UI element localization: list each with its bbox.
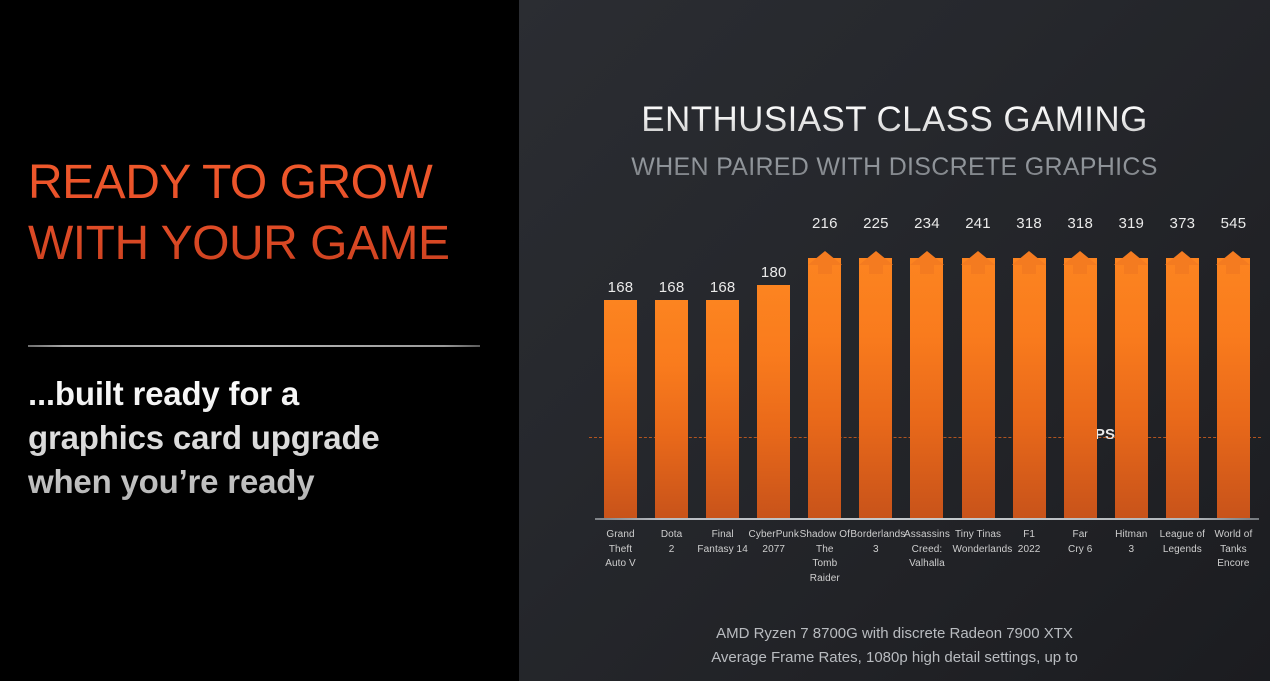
bar-slot: 168	[697, 210, 748, 518]
x-axis-label-line: Borderlands 3	[850, 528, 901, 557]
bar-value-label: 318	[1004, 215, 1055, 232]
x-axis-label: AssassinsCreed:Valhalla	[901, 528, 952, 586]
x-axis-label: World ofTanksEncore	[1208, 528, 1259, 586]
bar-slot: 545	[1208, 210, 1259, 518]
bar-value-label: 168	[595, 279, 646, 296]
x-axis-label: Borderlands 3	[850, 528, 901, 586]
headline-line-1: READY TO GROW	[28, 152, 498, 213]
x-axis-label-line: Tomb Raider	[799, 557, 850, 586]
subheadline-line-3: when you’re ready	[28, 460, 498, 504]
bar-value-label: 319	[1106, 215, 1157, 232]
bar-slot: 373	[1157, 210, 1208, 518]
bar-value-label: 545	[1208, 215, 1259, 232]
x-axis-label: FarCry 6	[1055, 528, 1106, 586]
x-axis-label-line: Far	[1055, 528, 1106, 543]
x-axis-label-line: Tiny Tinas	[953, 528, 1004, 543]
x-axis-label-line: Grand Theft	[595, 528, 646, 557]
bar-slot: 234	[901, 210, 952, 518]
subheadline-line-2: graphics card upgrade	[28, 416, 498, 460]
x-axis-label-line: CyberPunk	[748, 528, 799, 543]
bar	[808, 258, 841, 518]
x-axis-label: Hitman3	[1106, 528, 1157, 586]
x-axis-label-line: 3	[1106, 543, 1157, 558]
footnote-line-1: AMD Ryzen 7 8700G with discrete Radeon 7…	[519, 622, 1270, 646]
bar-slot: 216	[799, 210, 850, 518]
bar	[655, 300, 688, 518]
x-axis-label: FinalFantasy 14	[697, 528, 748, 586]
x-axis-label: League ofLegends	[1157, 528, 1208, 586]
headline: READY TO GROW WITH YOUR GAME	[28, 152, 498, 275]
bar-slot: 168	[646, 210, 697, 518]
chart-title: ENTHUSIAST CLASS GAMING	[519, 100, 1270, 140]
x-axis-label-line: Shadow Of	[799, 528, 850, 543]
bar	[757, 285, 790, 518]
x-axis-label-line: Wonderlands	[953, 543, 1004, 558]
x-axis-label-line: Tanks	[1208, 543, 1259, 558]
bar-value-label: 318	[1055, 215, 1106, 232]
x-axis-label-line: Legends	[1157, 543, 1208, 558]
chart-subtitle: WHEN PAIRED WITH DISCRETE GRAPHICS	[519, 153, 1270, 182]
subheadline: ...built ready for a graphics card upgra…	[28, 372, 498, 504]
bar-chart-plot: 168168168180216225234241318318319373545	[595, 210, 1259, 520]
bar-slot: 241	[953, 210, 1004, 518]
bar-slot: 318	[1004, 210, 1055, 518]
x-axis-label-line: Dota	[646, 528, 697, 543]
subheadline-line-1: ...built ready for a	[28, 372, 498, 416]
bar	[1217, 258, 1250, 518]
x-axis-label: Dota2	[646, 528, 697, 586]
x-axis-label-line: Hitman	[1106, 528, 1157, 543]
x-axis-label: Tiny TinasWonderlands	[953, 528, 1004, 586]
bar-slot: 318	[1055, 210, 1106, 518]
bar	[706, 300, 739, 518]
x-axis-label: Grand TheftAuto V	[595, 528, 646, 586]
headline-divider	[28, 345, 480, 347]
x-axis-label-line: F1	[1004, 528, 1055, 543]
x-axis-label-line: Assassins	[901, 528, 952, 543]
bar	[604, 300, 637, 518]
bar	[859, 258, 892, 518]
bar-slot: 168	[595, 210, 646, 518]
bar	[962, 258, 995, 518]
x-axis-labels: Grand TheftAuto VDota2FinalFantasy 14Cyb…	[595, 528, 1259, 586]
x-axis-label-line: World of	[1208, 528, 1259, 543]
bar	[1166, 258, 1199, 518]
x-axis-label-line: The	[799, 543, 850, 558]
x-axis-label-line: Creed:	[901, 543, 952, 558]
x-axis-label-line: 2022	[1004, 543, 1055, 558]
slide-root: READY TO GROW WITH YOUR GAME ...built re…	[0, 0, 1270, 681]
bar	[1064, 258, 1097, 518]
x-axis-label-line: Valhalla	[901, 557, 952, 572]
bar-value-label: 373	[1157, 215, 1208, 232]
bar-value-label: 168	[697, 279, 748, 296]
bar-group: 168168168180216225234241318318319373545	[595, 210, 1259, 518]
bar-value-label: 225	[850, 215, 901, 232]
footnote-line-2: Average Frame Rates, 1080p high detail s…	[519, 646, 1270, 670]
bar-value-label: 216	[799, 215, 850, 232]
x-axis-label-line: Cry 6	[1055, 543, 1106, 558]
headline-line-2: WITH YOUR GAME	[28, 213, 498, 274]
x-axis-label: Shadow OfTheTomb Raider	[799, 528, 850, 586]
bar	[1013, 258, 1046, 518]
bar	[910, 258, 943, 518]
bar-value-label: 168	[646, 279, 697, 296]
x-axis-label: CyberPunk2077	[748, 528, 799, 586]
chart-footnote: AMD Ryzen 7 8700G with discrete Radeon 7…	[519, 622, 1270, 671]
left-panel: READY TO GROW WITH YOUR GAME ...built re…	[0, 0, 519, 681]
right-panel: ENTHUSIAST CLASS GAMING WHEN PAIRED WITH…	[519, 0, 1270, 681]
bar	[1115, 258, 1148, 518]
bar-slot: 180	[748, 210, 799, 518]
axis-baseline	[595, 518, 1259, 520]
x-axis-label-line: Auto V	[595, 557, 646, 572]
bar-slot: 319	[1106, 210, 1157, 518]
bar-slot: 225	[850, 210, 901, 518]
x-axis-label-line: 2077	[748, 543, 799, 558]
x-axis-label-line: League of	[1157, 528, 1208, 543]
x-axis-label-line: 2	[646, 543, 697, 558]
x-axis-label-line: Fantasy 14	[697, 543, 748, 558]
x-axis-label: F12022	[1004, 528, 1055, 586]
x-axis-label-line: Encore	[1208, 557, 1259, 572]
x-axis-label-line: Final	[697, 528, 748, 543]
bar-value-label: 241	[953, 215, 1004, 232]
bar-value-label: 180	[748, 264, 799, 281]
bar-value-label: 234	[901, 215, 952, 232]
